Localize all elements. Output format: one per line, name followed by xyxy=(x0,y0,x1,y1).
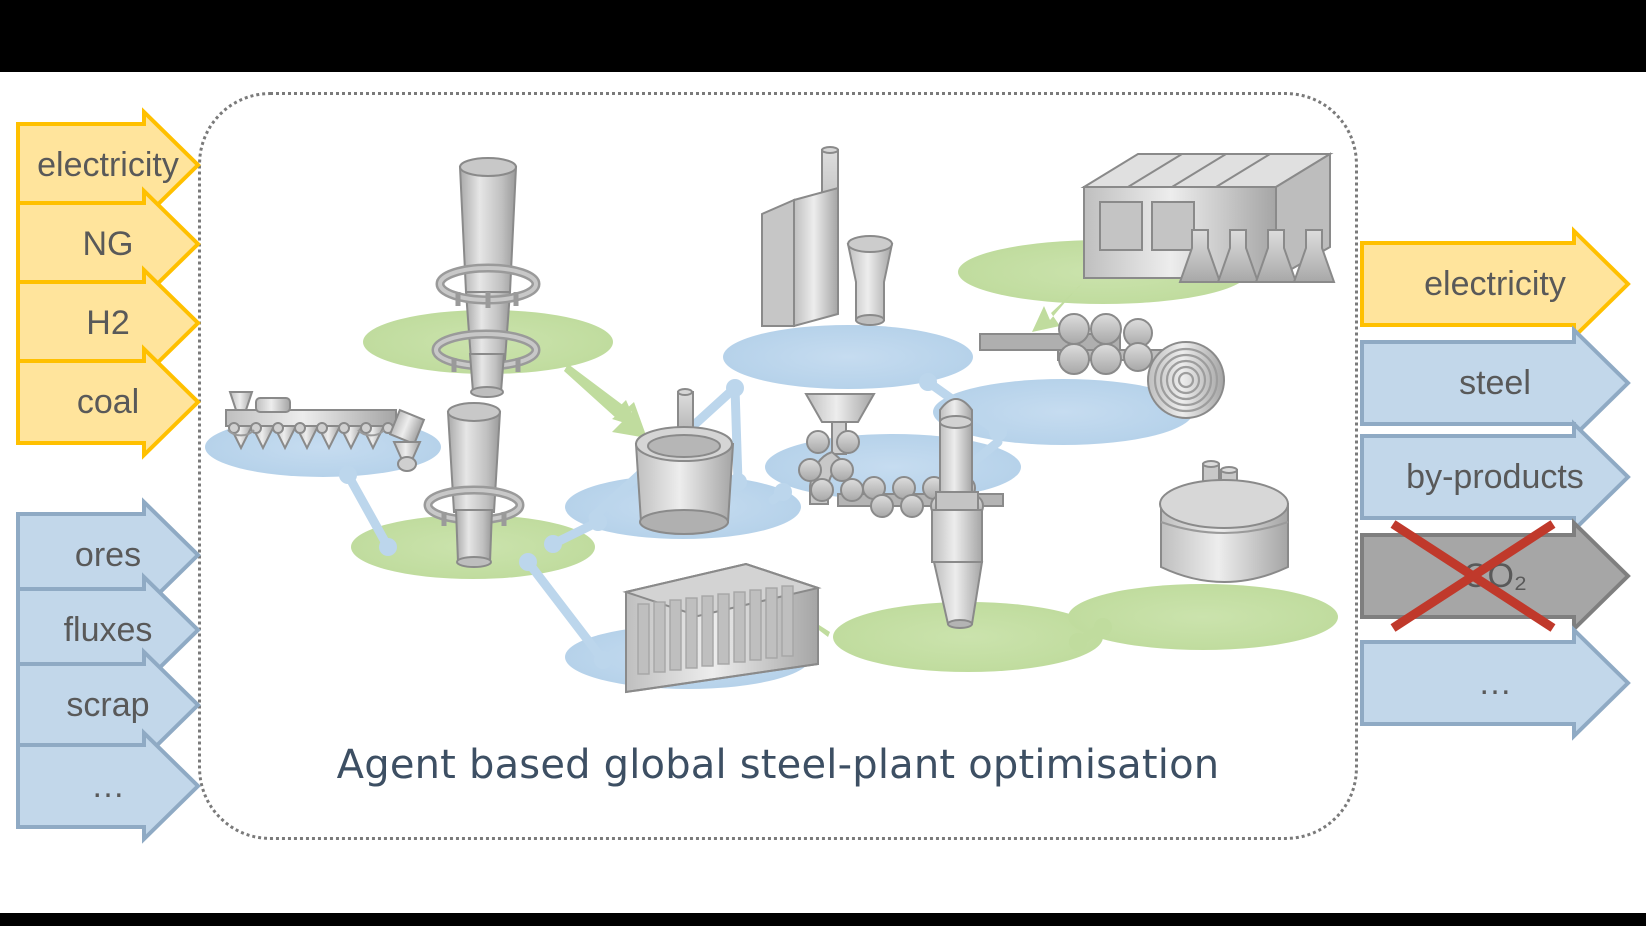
green-arrow-tower-to-right xyxy=(564,364,647,438)
output-label-by-products: by-products xyxy=(1406,458,1584,497)
storage-tank-icon xyxy=(1160,461,1288,582)
link-tower-to-warehouse xyxy=(528,562,603,660)
input-label-ng: NG xyxy=(83,225,134,264)
input-arrow-electricity[interactable]: electricity xyxy=(16,137,200,193)
input-arrow-ng[interactable]: NG xyxy=(16,216,200,272)
input-arrow-h2[interactable]: H2 xyxy=(16,295,200,351)
research-halls-icon xyxy=(1084,154,1334,282)
converter-vessel-icon xyxy=(636,389,733,534)
input-label-more: … xyxy=(91,767,125,806)
input-label-coal: coal xyxy=(77,383,139,422)
power-plant-icon xyxy=(762,147,892,326)
letterbox-bottom xyxy=(0,913,1646,926)
input-label-scrap: scrap xyxy=(66,686,149,725)
output-arrow-by-products[interactable]: by-products xyxy=(1360,449,1630,505)
co2-crossed-out-icon xyxy=(1385,516,1561,636)
slide-stage: Agent based global steel-plant optimisat… xyxy=(0,0,1646,926)
link-converter-to-power xyxy=(735,388,738,482)
input-arrow-coal[interactable]: coal xyxy=(16,374,200,430)
input-arrow-more[interactable]: … xyxy=(16,758,200,814)
output-label-steel: steel xyxy=(1459,364,1531,403)
input-label-fluxes: fluxes xyxy=(64,611,153,650)
output-arrow-steel[interactable]: steel xyxy=(1360,355,1630,411)
letterbox-top xyxy=(0,0,1646,72)
output-arrow-electricity[interactable]: electricity xyxy=(1360,256,1630,312)
output-label-electricity: electricity xyxy=(1424,265,1566,304)
input-arrow-scrap[interactable]: scrap xyxy=(16,677,200,733)
input-label-electricity: electricity xyxy=(37,146,179,185)
input-label-ores: ores xyxy=(75,536,141,575)
input-arrow-fluxes[interactable]: fluxes xyxy=(16,602,200,658)
output-label-more: … xyxy=(1478,664,1512,703)
input-label-h2: H2 xyxy=(86,304,129,343)
input-arrow-ores[interactable]: ores xyxy=(16,527,200,583)
plant-scene xyxy=(198,92,1358,792)
cooling-tower-upper-icon xyxy=(436,158,536,397)
platform-green-tank xyxy=(1068,584,1338,650)
output-arrow-more[interactable]: … xyxy=(1360,655,1630,711)
page-title: Agent based global steel-plant optimisat… xyxy=(198,742,1358,788)
